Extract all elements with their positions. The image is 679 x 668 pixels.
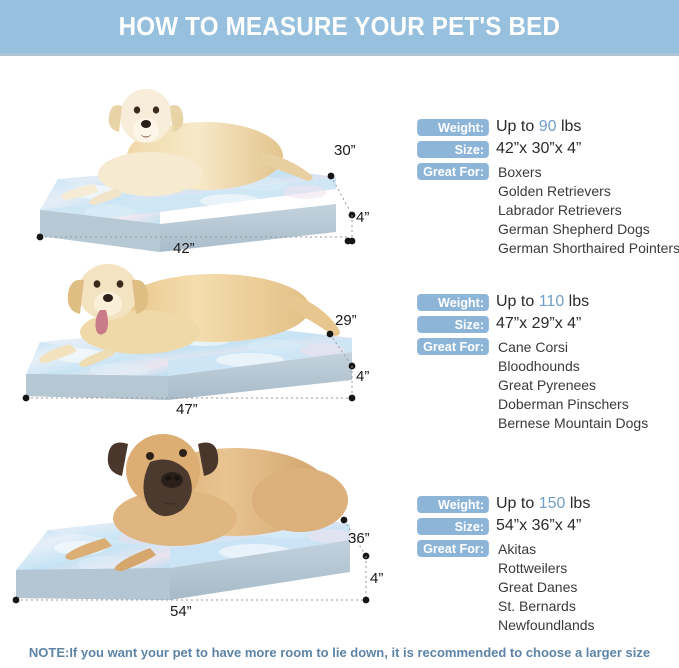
- bed-info-small: Weight: Up to 90 lbs Size: 42”x 30”x 4” …: [410, 64, 679, 254]
- list-item: Newfoundlands: [498, 616, 595, 635]
- weight-label: Weight:: [417, 294, 489, 311]
- list-item: Great Danes: [498, 578, 577, 597]
- bed-illustration-medium: 29” 4” 47”: [0, 246, 410, 422]
- dimension-width-large: 36”: [348, 530, 370, 547]
- dimension-height-medium: 4”: [356, 368, 369, 385]
- bed-info-medium: Weight: Up to 110 lbs Size: 47”x 29”x 4”…: [410, 246, 679, 422]
- weight-suffix: lbs: [561, 118, 581, 135]
- size-row-small: Size: 42”x 30”x 4”: [410, 141, 679, 161]
- size-value-large: 54”x 36”x 4”: [496, 517, 581, 535]
- weight-number: 150: [539, 495, 566, 512]
- great-for-label: Great For:: [417, 338, 489, 355]
- dimension-length-medium: 47”: [176, 401, 198, 418]
- list-item: Rottweilers: [498, 559, 567, 578]
- bed-svg-medium: [0, 246, 410, 422]
- weight-row-small: Weight: Up to 90 lbs: [410, 119, 679, 139]
- size-value-medium: 47”x 29”x 4”: [496, 315, 581, 333]
- weight-suffix: lbs: [570, 495, 590, 512]
- weight-value-large: Up to 150 lbs: [496, 495, 590, 513]
- bed-illustration-large: 36” 4” 54”: [0, 422, 410, 636]
- list-item: Great Pyrenees: [498, 376, 596, 395]
- weight-row-medium: Weight: Up to 110 lbs: [410, 294, 679, 314]
- list-item: German Shepherd Dogs: [498, 220, 650, 239]
- list-item: Bloodhounds: [498, 357, 580, 376]
- great-for-label: Great For:: [417, 540, 489, 557]
- footer-note: NOTE:If you want your pet to have more r…: [0, 645, 679, 660]
- weight-value-medium: Up to 110 lbs: [496, 293, 589, 311]
- bed-info-large: Weight: Up to 150 lbs Size: 54”x 36”x 4”…: [410, 422, 679, 636]
- list-item: St. Bernards: [498, 597, 576, 616]
- weight-prefix: Up to: [496, 118, 534, 135]
- weight-number: 110: [539, 293, 565, 310]
- great-for-label: Great For:: [417, 163, 489, 180]
- content-area: 30” 4” 42” Weight: Up to 90 lbs Size: 42…: [0, 56, 679, 640]
- dimension-height-small: 4”: [356, 209, 369, 226]
- infographic-page: HOW TO MEASURE YOUR PET'S BED: [0, 0, 679, 668]
- dimension-width-small: 30”: [334, 142, 356, 159]
- weight-value-small: Up to 90 lbs: [496, 118, 581, 136]
- list-item: Cane Corsi: [498, 338, 568, 357]
- header-banner: HOW TO MEASURE YOUR PET'S BED: [0, 0, 679, 53]
- bed-block-small: 30” 4” 42” Weight: Up to 90 lbs Size: 42…: [0, 64, 679, 254]
- list-item: Akitas: [498, 540, 536, 559]
- size-value-small: 42”x 30”x 4”: [496, 140, 581, 158]
- bed-block-large: 36” 4” 54” Weight: Up to 150 lbs Size: 5…: [0, 422, 679, 636]
- size-row-large: Size: 54”x 36”x 4”: [410, 518, 679, 538]
- weight-number: 90: [539, 118, 557, 135]
- size-label: Size:: [417, 316, 489, 333]
- list-item: Doberman Pinschers: [498, 395, 629, 414]
- weight-prefix: Up to: [496, 495, 534, 512]
- dimension-height-large: 4”: [370, 570, 383, 587]
- bed-svg-large: [0, 422, 410, 636]
- weight-label: Weight:: [417, 119, 489, 136]
- greatfor-row-large: Great For: Akitas Rottweilers Great Dane…: [410, 540, 679, 640]
- weight-prefix: Up to: [496, 293, 534, 310]
- page-title: HOW TO MEASURE YOUR PET'S BED: [119, 11, 561, 42]
- list-item: Golden Retrievers: [498, 182, 611, 201]
- list-item: Boxers: [498, 163, 542, 182]
- bed-svg-small: [0, 64, 410, 254]
- dimension-width-medium: 29”: [335, 312, 357, 329]
- list-item: Labrador Retrievers: [498, 201, 622, 220]
- bed-block-medium: 29” 4” 47” Weight: Up to 110 lbs Size: 4…: [0, 246, 679, 422]
- size-label: Size:: [417, 141, 489, 158]
- dimension-length-large: 54”: [170, 603, 192, 620]
- weight-suffix: lbs: [569, 293, 589, 310]
- size-row-medium: Size: 47”x 29”x 4”: [410, 316, 679, 336]
- weight-row-large: Weight: Up to 150 lbs: [410, 496, 679, 516]
- size-label: Size:: [417, 518, 489, 535]
- bed-illustration-small: 30” 4” 42”: [0, 64, 410, 254]
- weight-label: Weight:: [417, 496, 489, 513]
